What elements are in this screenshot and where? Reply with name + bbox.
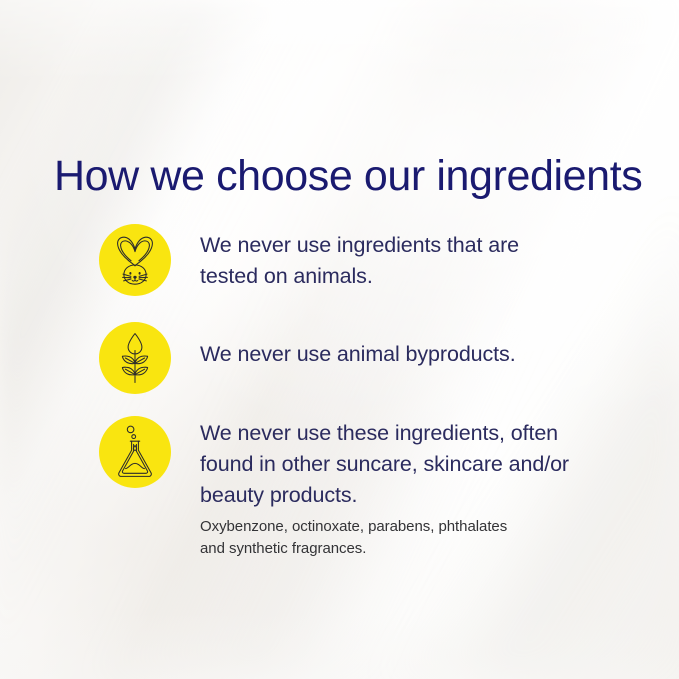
list-item-line: tested on animals. xyxy=(200,261,639,292)
icon-badge-flask xyxy=(99,416,171,488)
list-item: We never use these ingredients, often fo… xyxy=(99,416,639,560)
excluded-ingredients-line: Oxybenzone, octinoxate, parabens, phthal… xyxy=(200,516,639,538)
bunny-cruelty-free-icon xyxy=(112,234,158,286)
list-item-text: We never use these ingredients, often fo… xyxy=(171,416,639,560)
plant-leaf-icon xyxy=(114,332,156,384)
flask-beaker-icon xyxy=(114,425,156,479)
list-item-line: beauty products. xyxy=(200,480,639,511)
benefit-list: We never use ingredients that are tested… xyxy=(99,224,639,560)
list-item: We never use ingredients that are tested… xyxy=(99,224,639,296)
list-item: We never use animal byproducts. xyxy=(99,322,639,394)
icon-badge-cruelty-free xyxy=(99,224,171,296)
ingredients-info-card: How we choose our ingredients xyxy=(0,0,679,679)
list-item-text: We never use animal byproducts. xyxy=(171,322,639,370)
excluded-ingredients-line: and synthetic fragrances. xyxy=(200,538,639,560)
content-area: How we choose our ingredients xyxy=(0,0,679,679)
list-item-line: We never use these ingredients, often xyxy=(200,418,639,449)
list-item-line: found in other suncare, skincare and/or xyxy=(200,449,639,480)
page-title: How we choose our ingredients xyxy=(54,153,642,199)
list-item-text: We never use ingredients that are tested… xyxy=(171,224,639,292)
list-item-line: We never use animal byproducts. xyxy=(200,339,639,370)
list-item-line: We never use ingredients that are xyxy=(200,230,639,261)
icon-badge-plant xyxy=(99,322,171,394)
